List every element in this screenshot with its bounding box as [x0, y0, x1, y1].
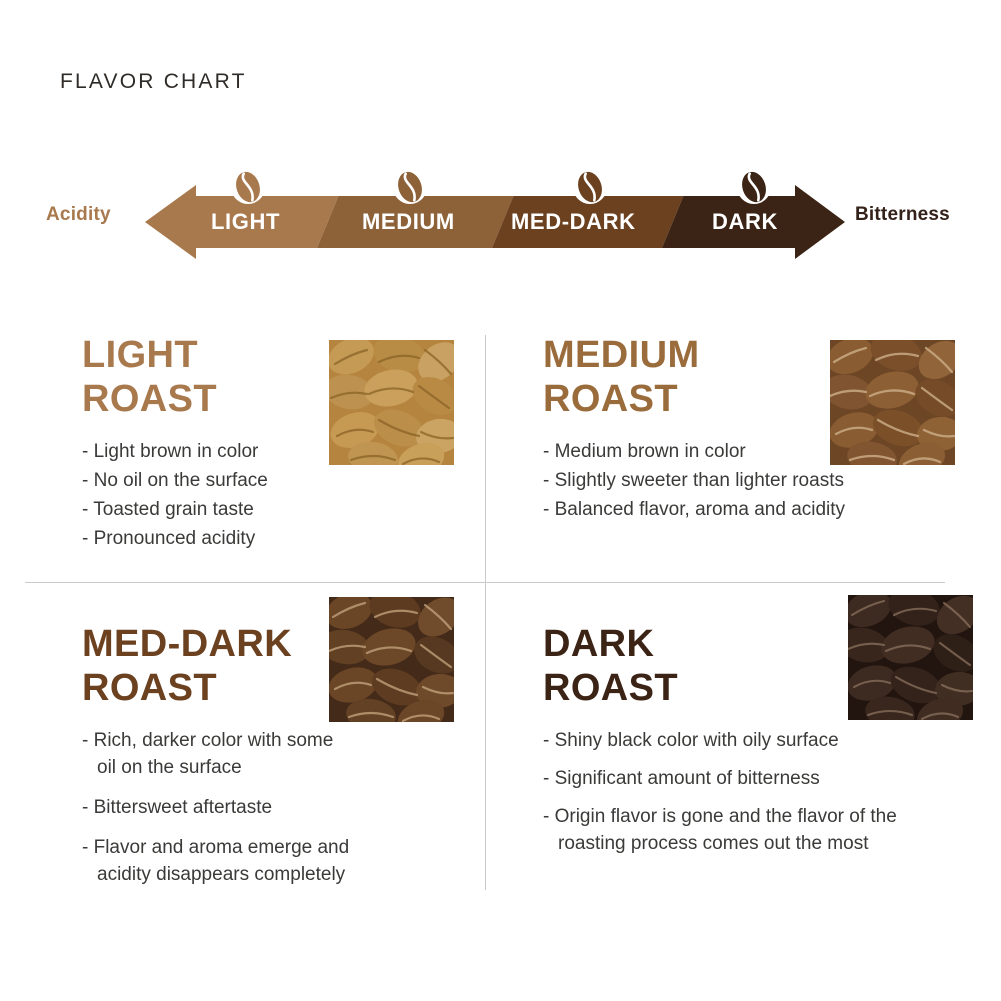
list-item: - Medium brown in color — [543, 439, 963, 466]
list-item: - Flavor and aroma emerge and acidity di… — [82, 835, 367, 889]
coffee-bean-icon — [572, 169, 608, 213]
roast-heading-light: LIGHT ROAST — [82, 333, 482, 421]
coffee-bean-icon — [736, 169, 772, 213]
list-item: - Rich, darker color with some oil on th… — [82, 728, 347, 782]
list-item: - Bittersweet aftertaste — [82, 795, 482, 822]
list-item: - Light brown in color — [82, 439, 482, 466]
scale-label-light: LIGHT — [211, 209, 280, 235]
scale-label-medium: MEDIUM — [362, 209, 455, 235]
scale-label-med-dark: MED-DARK — [511, 209, 636, 235]
coffee-bean-icon — [392, 169, 428, 213]
quadrant-light-roast: LIGHT ROAST - Light brown in color - No … — [82, 333, 482, 555]
quadrant-medium-roast: MEDIUM ROAST - Medium brown in color - S… — [543, 333, 963, 526]
roast-heading-medium: MEDIUM ROAST — [543, 333, 963, 421]
page-title: FLAVOR CHART — [60, 70, 247, 94]
roast-bullets-med-dark: - Rich, darker color with some oil on th… — [82, 728, 482, 889]
list-item: - Toasted grain taste — [82, 497, 482, 524]
roast-gradient-arrow — [0, 160, 1001, 280]
roast-bullets-light: - Light brown in color - No oil on the s… — [82, 439, 482, 553]
quadrant-dark-roast: DARK ROAST - Shiny black color with oily… — [543, 622, 963, 869]
roast-heading-dark: DARK ROAST — [543, 622, 963, 710]
quadrant-med-dark-roast: MED-DARK ROAST - Rich, darker color with… — [82, 622, 482, 902]
scale-label-dark: DARK — [712, 209, 778, 235]
divider-vertical — [485, 335, 486, 890]
roast-heading-med-dark: MED-DARK ROAST — [82, 622, 482, 710]
list-item: - Shiny black color with oily surface — [543, 728, 963, 755]
list-item: - Slightly sweeter than lighter roasts — [543, 468, 963, 495]
roast-bullets-dark: - Shiny black color with oily surface - … — [543, 728, 963, 858]
list-item: - No oil on the surface — [82, 468, 482, 495]
roast-bullets-medium: - Medium brown in color - Slightly sweet… — [543, 439, 963, 524]
list-item: - Pronounced acidity — [82, 526, 482, 553]
list-item: - Significant amount of bitterness — [543, 766, 963, 793]
coffee-bean-icon — [230, 169, 266, 213]
list-item: - Origin flavor is gone and the flavor o… — [543, 804, 918, 858]
roast-scale: Acidity Bitterness L — [0, 160, 1001, 280]
list-item: - Balanced flavor, aroma and acidity — [543, 497, 963, 524]
